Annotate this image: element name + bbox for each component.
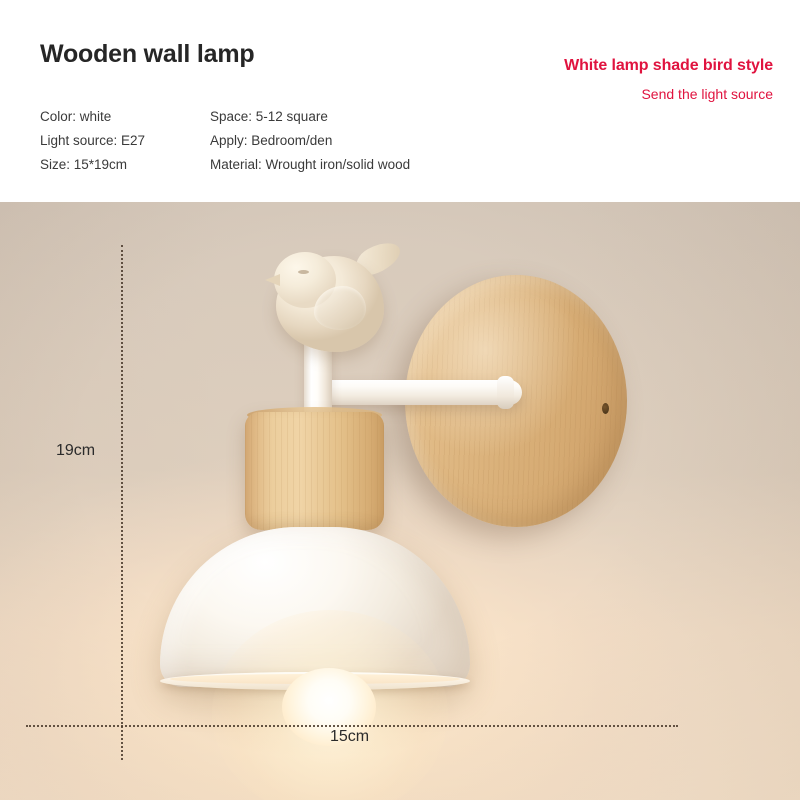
bird-wing xyxy=(314,286,366,330)
spec-color: Color: white xyxy=(40,105,145,129)
height-guide-line xyxy=(121,245,123,760)
promo-headline-block: White lamp shade bird style Send the lig… xyxy=(564,57,773,102)
product-header: Wooden wall lamp White lamp shade bird s… xyxy=(0,0,800,202)
product-photo: 19cm 15cm xyxy=(0,202,800,800)
bird-figurine xyxy=(262,242,412,357)
width-dimension-label: 15cm xyxy=(330,728,369,746)
spec-column-left: Color: white Light source: E27 Size: 15*… xyxy=(40,105,145,177)
spec-space: Space: 5-12 square xyxy=(210,105,410,129)
spec-apply: Apply: Bedroom/den xyxy=(210,129,410,153)
wall-lamp-assembly xyxy=(0,202,800,800)
promo-headline: White lamp shade bird style xyxy=(564,57,773,75)
spec-column-right: Space: 5-12 square Apply: Bedroom/den Ma… xyxy=(210,105,410,177)
width-guide-line xyxy=(26,725,678,727)
bird-beak xyxy=(265,274,280,286)
arm-collar xyxy=(497,376,514,409)
page-title: Wooden wall lamp xyxy=(40,40,254,69)
bird-eye xyxy=(298,270,309,274)
wood-collar xyxy=(245,412,384,530)
spec-material: Material: Wrought iron/solid wood xyxy=(210,153,410,177)
promo-subheadline: Send the light source xyxy=(564,86,773,102)
wood-knot xyxy=(602,403,609,414)
lamp-arm xyxy=(317,380,522,405)
spec-size: Size: 15*19cm xyxy=(40,153,145,177)
spec-light-source: Light source: E27 xyxy=(40,129,145,153)
height-dimension-label: 19cm xyxy=(56,442,95,460)
